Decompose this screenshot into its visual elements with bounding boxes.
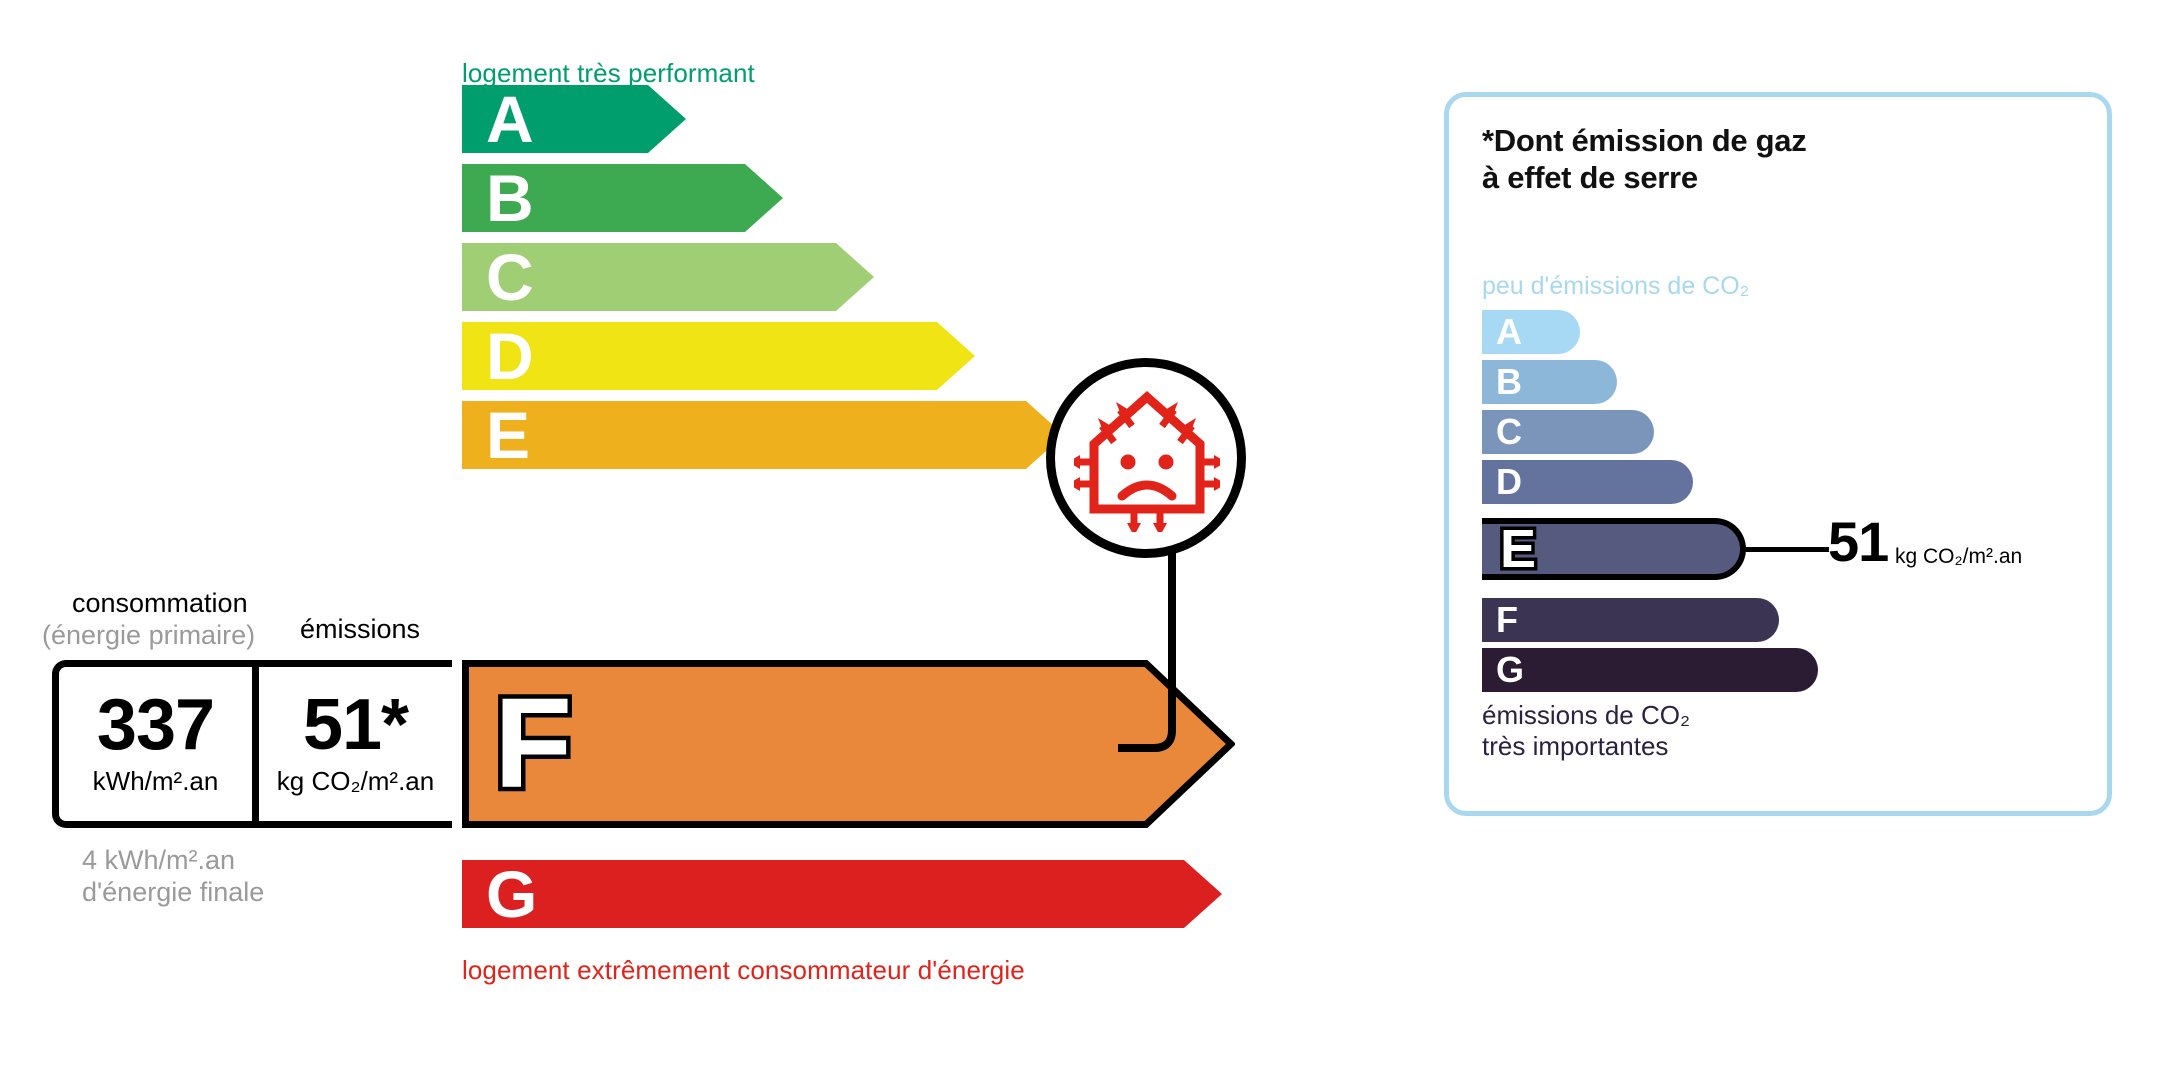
ges-class-letter-f: F bbox=[1496, 602, 1518, 638]
arrow-shape-g bbox=[462, 860, 1222, 928]
ges-class-row-c[interactable]: C bbox=[1482, 410, 1654, 454]
energy-class-row-g[interactable]: G bbox=[462, 860, 1222, 928]
ges-class-row-f[interactable]: F bbox=[1482, 598, 1779, 642]
energy-class-row-a[interactable]: A bbox=[462, 85, 686, 153]
ges-callout-line bbox=[1745, 547, 1829, 552]
emissions-value-cell: 51* kg CO₂/m².an bbox=[252, 667, 452, 821]
ges-panel-title: *Dont émission de gaz à effet de serre bbox=[1482, 122, 1806, 196]
energy-class-letter-g: G bbox=[486, 861, 537, 927]
sad-house-badge bbox=[1046, 358, 1246, 558]
energy-scale-bottom-caption: logement extrêmement consommateur d'éner… bbox=[462, 955, 1025, 986]
ges-class-letter-e: E bbox=[1500, 522, 1536, 576]
energy-class-row-c[interactable]: C bbox=[462, 243, 874, 311]
consumption-label: consommation bbox=[72, 588, 248, 619]
ges-class-letter-d: D bbox=[1496, 464, 1522, 500]
energy-class-row-e[interactable]: E bbox=[462, 401, 1064, 469]
energy-class-letter-e: E bbox=[486, 402, 530, 468]
ges-class-letter-c: C bbox=[1496, 414, 1522, 450]
ges-bottom-caption: émissions de CO₂ très importantes bbox=[1482, 700, 1690, 762]
consumption-value: 337 bbox=[97, 691, 214, 760]
ges-value-unit: kg CO₂/m².an bbox=[1895, 545, 2022, 569]
ges-class-row-b[interactable]: B bbox=[1482, 360, 1617, 404]
ges-class-row-e-current[interactable]: E bbox=[1482, 518, 1746, 580]
energy-class-letter-f: F bbox=[494, 680, 572, 808]
energy-class-letter-b: B bbox=[486, 165, 534, 231]
callout-connector-line bbox=[1118, 540, 1178, 755]
ges-class-letter-a: A bbox=[1496, 314, 1522, 350]
emissions-label: émissions bbox=[300, 614, 420, 645]
energy-class-letter-d: D bbox=[486, 323, 534, 389]
final-energy-note: 4 kWh/m².an d'énergie finale bbox=[82, 845, 264, 909]
arrow-shape-d bbox=[462, 322, 975, 390]
sad-house-heat-loss-icon bbox=[1074, 384, 1220, 532]
ges-class-row-d[interactable]: D bbox=[1482, 460, 1693, 504]
energy-class-letter-a: A bbox=[486, 86, 534, 152]
consumption-unit: kWh/m².an bbox=[93, 766, 219, 797]
ges-class-row-a[interactable]: A bbox=[1482, 310, 1580, 354]
consumption-value-cell: 337 kWh/m².an bbox=[59, 667, 252, 821]
ges-class-letter-g: G bbox=[1496, 652, 1524, 688]
arrow-shape-e bbox=[462, 401, 1064, 469]
ges-top-caption: peu d'émissions de CO₂ bbox=[1482, 272, 1749, 301]
value-box: 337 kWh/m².an 51* kg CO₂/m².an bbox=[52, 660, 452, 828]
ges-class-row-g[interactable]: G bbox=[1482, 648, 1818, 692]
ges-value: 51 bbox=[1828, 514, 1888, 570]
energy-class-letter-c: C bbox=[486, 244, 534, 310]
energy-class-row-d[interactable]: D bbox=[462, 322, 975, 390]
emissions-value: 51* bbox=[303, 691, 408, 760]
ges-class-letter-b: B bbox=[1496, 364, 1522, 400]
emissions-unit: kg CO₂/m².an bbox=[277, 766, 434, 797]
energy-class-row-b[interactable]: B bbox=[462, 164, 783, 232]
consumption-sub-label: (énergie primaire) bbox=[42, 620, 255, 651]
